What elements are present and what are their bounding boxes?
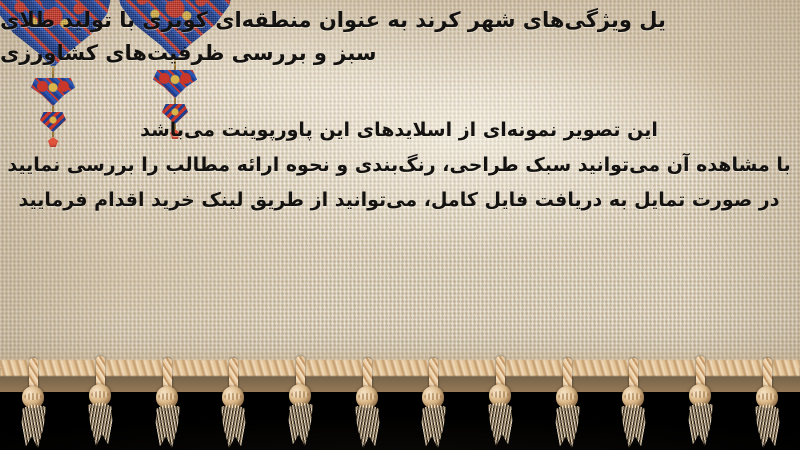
title-line-2: سبز و بررسی ظرفیت‌های کشاورزی [0, 37, 792, 70]
fringe-tassel [85, 356, 115, 448]
fringe-tassel [152, 358, 182, 450]
tassel-skirt [287, 402, 314, 446]
fringe-tassel [685, 356, 715, 448]
fringe-tassel [285, 356, 315, 448]
tassel-skirt [420, 404, 447, 448]
tassel-skirt [554, 404, 581, 448]
fringe-tassel [552, 358, 582, 450]
body-line-2: با مشاهده آن می‌توانید سبک طراحی، رنگ‌بن… [6, 148, 792, 183]
title-line-1: یل ویژگی‌های شهر کرند به عنوان منطقه‌ای … [0, 4, 800, 37]
tassel-skirt [620, 404, 647, 448]
fringe-tassel [752, 358, 782, 450]
fringe-tassel [18, 358, 48, 450]
tassel-skirt [154, 404, 181, 448]
body-line-3: در صورت تمایل به دریافت فایل کامل، می‌تو… [6, 183, 792, 218]
body-line-1: این تصویر نمونه‌ای از اسلایدهای این پاور… [6, 113, 792, 148]
slide-text-layer: یل ویژگی‌های شهر کرند به عنوان منطقه‌ای … [0, 0, 800, 392]
tassel-skirt [487, 402, 514, 446]
slide-body: این تصویر نمونه‌ای از اسلایدهای این پاور… [6, 113, 792, 218]
carpet-fringe-tassels [0, 358, 800, 450]
fringe-tassel [418, 358, 448, 450]
tassel-skirt [87, 402, 114, 446]
tassel-skirt [20, 404, 47, 448]
tassel-skirt [687, 402, 714, 446]
fringe-tassel [618, 358, 648, 450]
tassel-skirt [754, 404, 781, 448]
fringe-tassel [218, 358, 248, 450]
fringe-tassel [485, 356, 515, 448]
tassel-skirt [354, 404, 381, 448]
slide-canvas: یل ویژگی‌های شهر کرند به عنوان منطقه‌ای … [0, 0, 800, 450]
tassel-skirt [220, 404, 247, 448]
slide-title: یل ویژگی‌های شهر کرند به عنوان منطقه‌ای … [0, 4, 792, 70]
fringe-tassel [352, 358, 382, 450]
